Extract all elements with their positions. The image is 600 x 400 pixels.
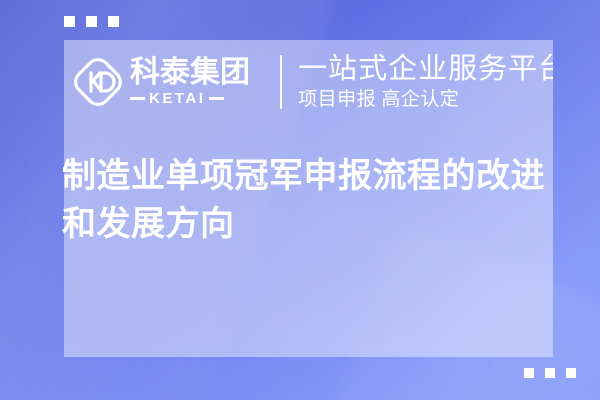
tagline-secondary: 项目申报 高企认定 [298,90,553,111]
brand-logo: 科泰集团 KETAI [64,56,274,108]
brand-name-en: KETAI [149,91,205,106]
wordmark-rule-right [209,97,224,100]
page-title: 制造业单项冠军申报流程的改进和发展方向 [62,152,556,249]
decoration-square-icon [524,368,534,378]
decoration-square-icon [566,368,576,378]
decoration-squares-bottom-right [524,368,576,378]
wordmark-rule-left [130,97,145,100]
brand-tagline: 一站式企业服务平台 项目申报 高企认定 [298,54,553,111]
promo-banner: 科泰集团 KETAI 一站式企业服务平台 项目申报 高企认定 制造业单项冠军申报… [0,0,600,400]
decoration-square-icon [64,16,75,27]
brand-wordmark: 科泰集团 KETAI [130,58,250,106]
decoration-squares-top-left [64,16,119,27]
decoration-square-icon [545,368,555,378]
brand-name-cn: 科泰集团 [130,58,250,88]
decoration-square-icon [86,16,97,27]
ketai-diamond-kd-logo-icon [72,56,124,108]
header-divider [280,55,282,109]
decoration-square-icon [108,16,119,27]
brand-header: 科泰集团 KETAI 一站式企业服务平台 项目申报 高企认定 [64,46,553,118]
brand-name-en-row: KETAI [130,91,250,106]
tagline-primary: 一站式企业服务平台 [298,54,553,85]
